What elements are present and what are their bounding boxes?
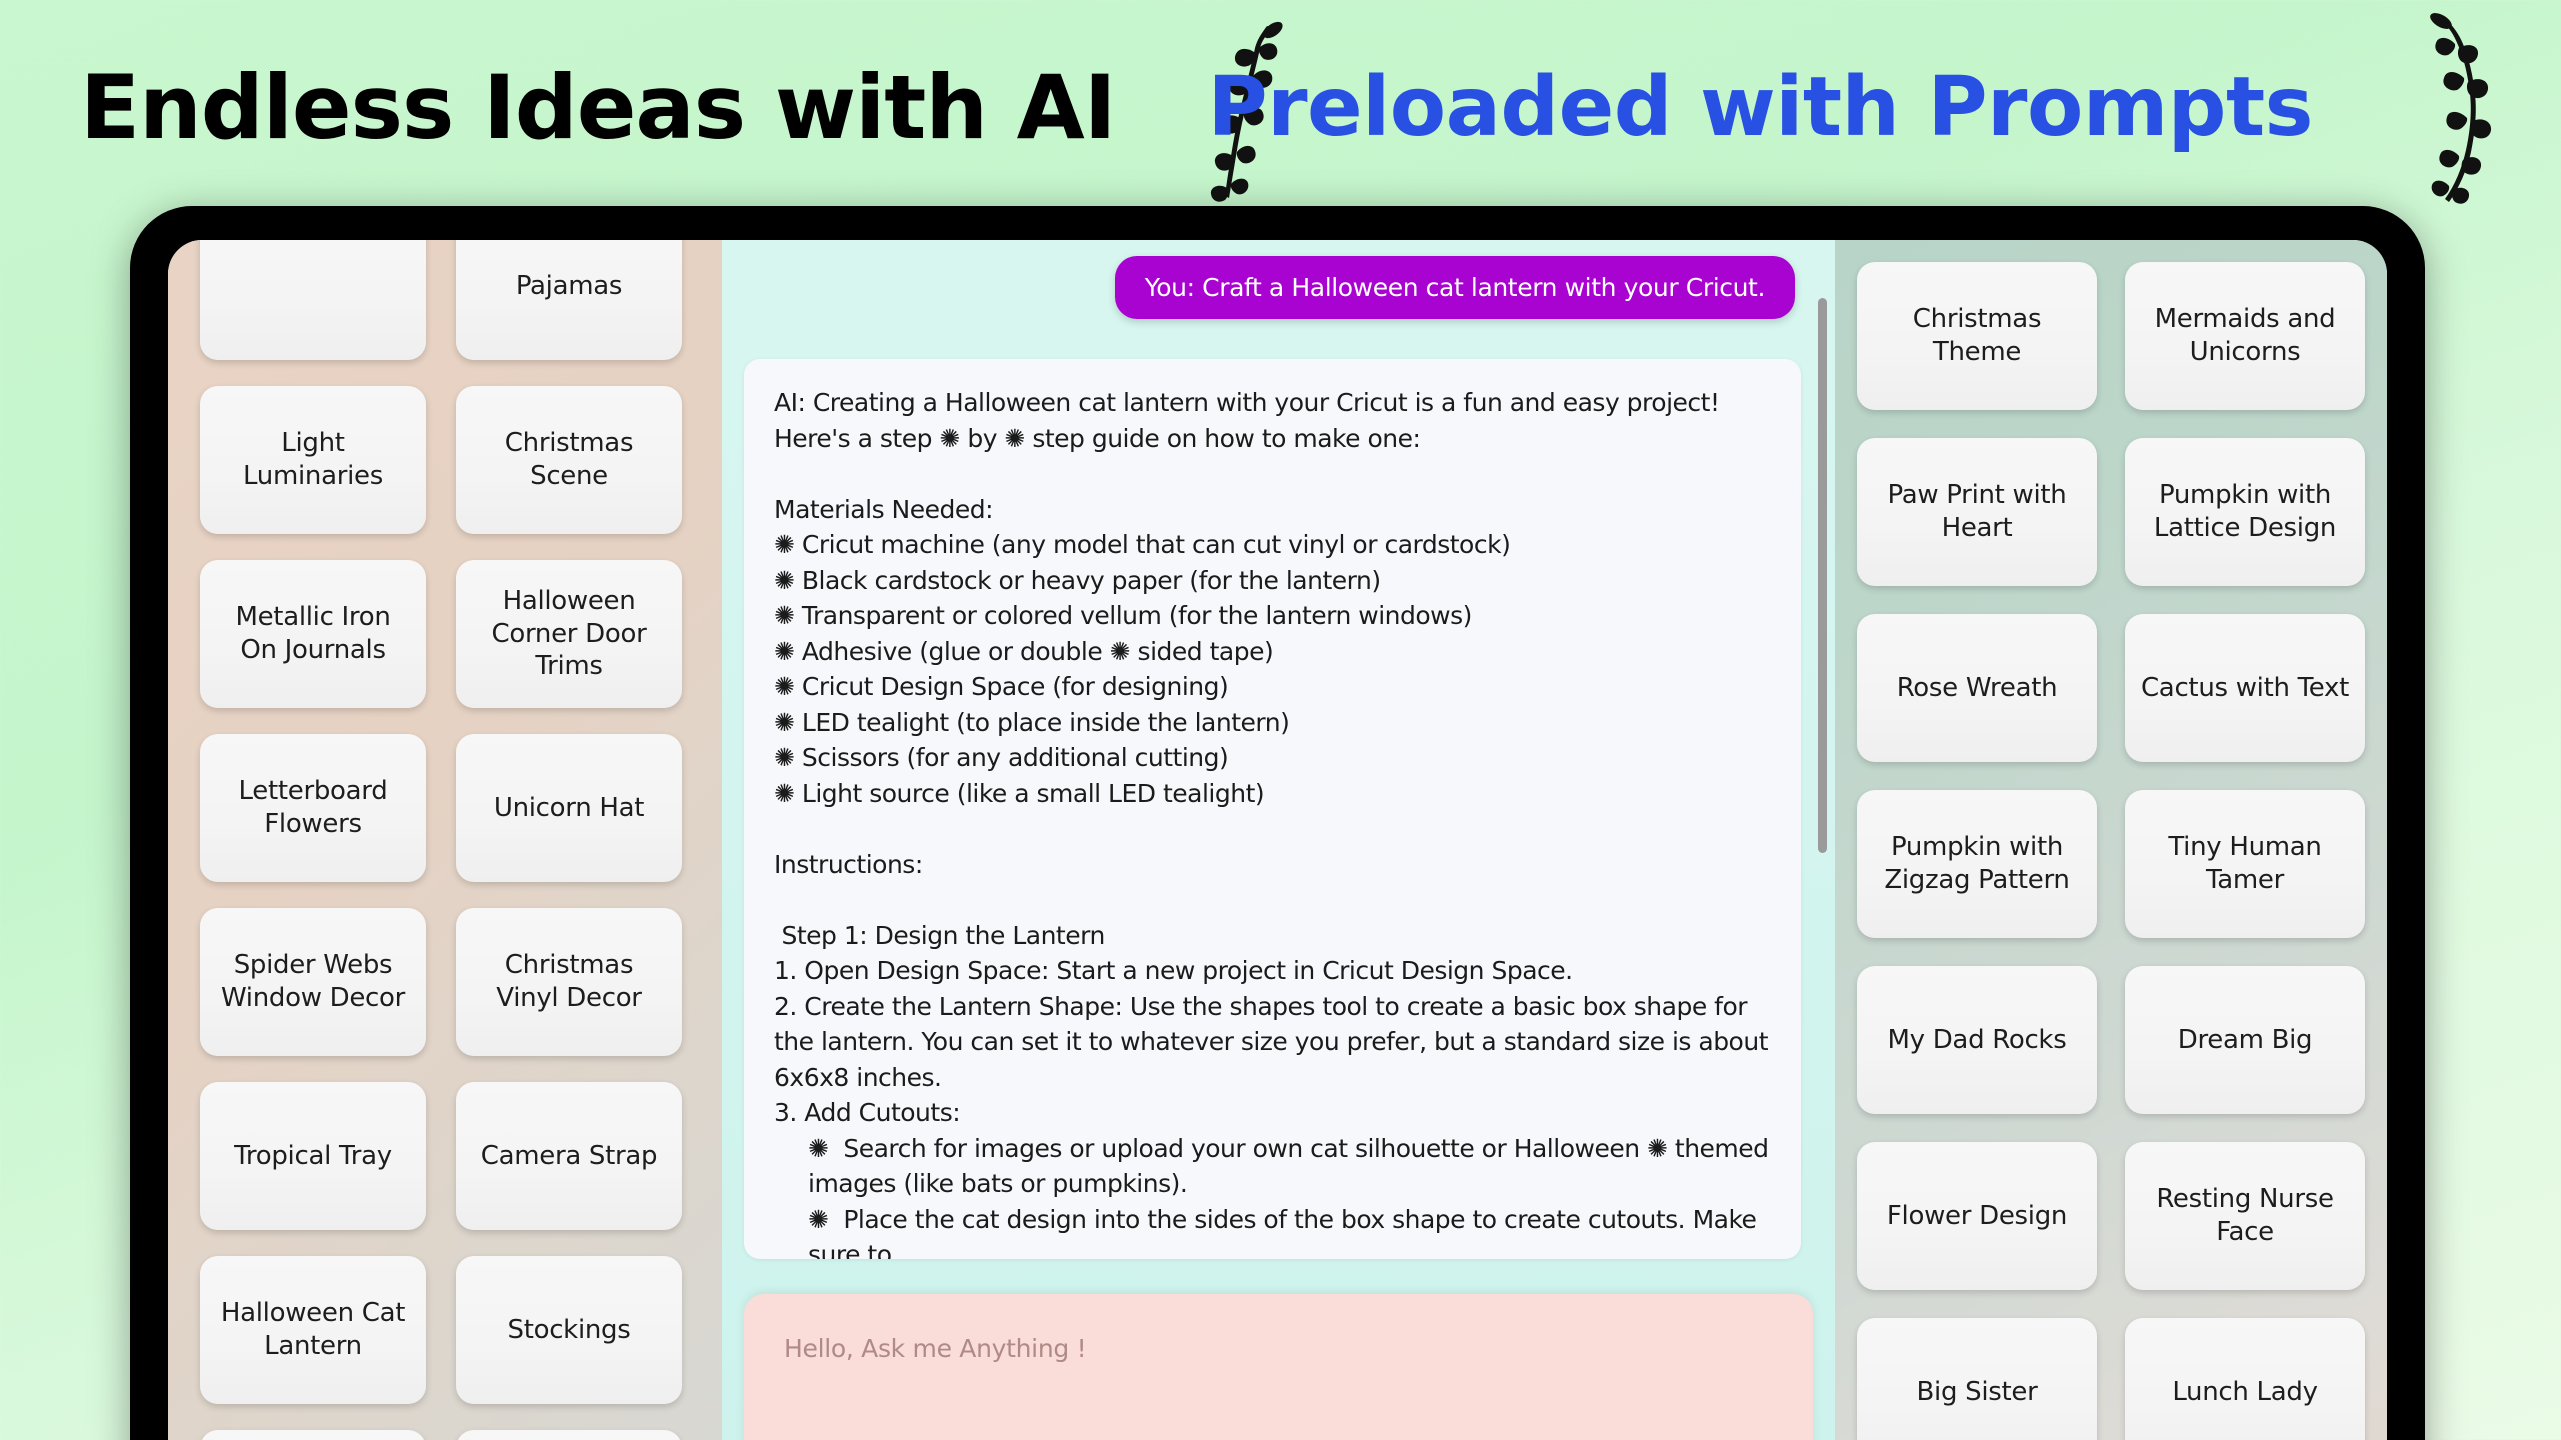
- left-prompt-card[interactable]: Light Luminaries: [200, 386, 426, 534]
- ai-message-line: ✺ Light source (like a small LED tealigh…: [774, 776, 1771, 812]
- chat-input[interactable]: [758, 1308, 1799, 1440]
- left-prompt-card[interactable]: Flower Wreath: [456, 1430, 682, 1440]
- right-prompt-card[interactable]: Flower Design: [1857, 1142, 2097, 1290]
- ai-message-line: Step 1: Design the Lantern: [774, 918, 1771, 954]
- ai-message-line: ✺ Search for images or upload your own c…: [774, 1131, 1771, 1202]
- chat-input-container: [744, 1294, 1813, 1440]
- left-prompt-card[interactable]: Spider Webs Window Decor: [200, 908, 426, 1056]
- right-prompt-grid: Christmas ThemeMermaids and UnicornsPaw …: [1857, 262, 2365, 1440]
- ai-message-line: ✺ Cricut machine (any model that can cut…: [774, 527, 1771, 563]
- left-prompt-card[interactable]: Christmas Scene: [456, 386, 682, 534]
- ai-message-line: ✺ Transparent or colored vellum (for the…: [774, 598, 1771, 634]
- left-prompt-card[interactable]: Letterboard Flowers: [200, 734, 426, 882]
- chat-scroll-region[interactable]: You: Craft a Halloween cat lantern with …: [722, 240, 1835, 1294]
- ai-message-line: ✺ Adhesive (glue or double ✺ sided tape): [774, 634, 1771, 670]
- ai-message-line: ✺ Place the cat design into the sides of…: [774, 1202, 1771, 1260]
- right-prompt-card[interactable]: Mermaids and Unicorns: [2125, 262, 2365, 410]
- right-prompt-panel[interactable]: Christmas ThemeMermaids and UnicornsPaw …: [1835, 240, 2387, 1440]
- chat-scrollbar[interactable]: [1818, 298, 1827, 853]
- user-message-bubble: You: Craft a Halloween cat lantern with …: [1115, 256, 1795, 319]
- right-prompt-card[interactable]: Cactus with Text: [2125, 614, 2365, 762]
- right-prompt-card[interactable]: Dream Big: [2125, 966, 2365, 1114]
- ai-message-line: ✺ Scissors (for any additional cutting): [774, 740, 1771, 776]
- ai-message-line: 2. Create the Lantern Shape: Use the sha…: [774, 989, 1771, 1096]
- right-prompt-card[interactable]: Pumpkin with Lattice Design: [2125, 438, 2365, 586]
- left-prompt-card[interactable]: Stickers: [200, 1430, 426, 1440]
- user-message-row: You: Craft a Halloween cat lantern with …: [744, 256, 1801, 319]
- chat-panel: You: Craft a Halloween cat lantern with …: [722, 240, 1835, 1440]
- tablet-device-frame: PajamasLight LuminariesChristmas SceneMe…: [130, 206, 2425, 1440]
- left-prompt-card[interactable]: Camera Strap: [456, 1082, 682, 1230]
- ai-blank-line: [774, 456, 1771, 492]
- right-prompt-card[interactable]: Big Sister: [1857, 1318, 2097, 1440]
- left-prompt-card[interactable]: Unicorn Hat: [456, 734, 682, 882]
- left-prompt-card[interactable]: [200, 240, 426, 360]
- tablet-screen: PajamasLight LuminariesChristmas SceneMe…: [168, 240, 2387, 1440]
- ai-message-line: 1. Open Design Space: Start a new projec…: [774, 953, 1771, 989]
- ai-message-line: ✺ Cricut Design Space (for designing): [774, 669, 1771, 705]
- headline-right: Preloaded with Prompts: [1207, 67, 2313, 149]
- ai-message-line: ✺ Black cardstock or heavy paper (for th…: [774, 563, 1771, 599]
- left-prompt-card[interactable]: Stockings: [456, 1256, 682, 1404]
- left-prompt-card[interactable]: Halloween Corner Door Trims: [456, 560, 682, 708]
- right-prompt-card[interactable]: Rose Wreath: [1857, 614, 2097, 762]
- left-prompt-card[interactable]: Tropical Tray: [200, 1082, 426, 1230]
- right-prompt-card[interactable]: Christmas Theme: [1857, 262, 2097, 410]
- right-prompt-card[interactable]: Pumpkin with Zigzag Pattern: [1857, 790, 2097, 938]
- ai-message-line: AI: Creating a Halloween cat lantern wit…: [774, 385, 1771, 456]
- right-prompt-card[interactable]: My Dad Rocks: [1857, 966, 2097, 1114]
- left-prompt-panel[interactable]: PajamasLight LuminariesChristmas SceneMe…: [168, 240, 722, 1440]
- ai-message-line: 3. Add Cutouts:: [774, 1095, 1771, 1131]
- ai-message-line: ✺ LED tealight (to place inside the lant…: [774, 705, 1771, 741]
- left-prompt-card[interactable]: Halloween Cat Lantern: [200, 1256, 426, 1404]
- left-prompt-card[interactable]: Metallic Iron On Journals: [200, 560, 426, 708]
- headline-left: Endless Ideas with AI: [80, 64, 1115, 152]
- ai-blank-line: [774, 811, 1771, 847]
- right-prompt-card[interactable]: Lunch Lady: [2125, 1318, 2365, 1440]
- left-prompt-grid: PajamasLight LuminariesChristmas SceneMe…: [200, 240, 682, 1440]
- right-prompt-card[interactable]: Tiny Human Tamer: [2125, 790, 2365, 938]
- ai-message-line: Instructions:: [774, 847, 1771, 883]
- left-prompt-card[interactable]: Pajamas: [456, 240, 682, 360]
- page-header: Endless Ideas with AI Preloaded with Pro…: [0, 0, 2561, 215]
- ai-message-bubble: AI: Creating a Halloween cat lantern wit…: [744, 359, 1801, 1259]
- left-prompt-card[interactable]: Christmas Vinyl Decor: [456, 908, 682, 1056]
- ai-blank-line: [774, 882, 1771, 918]
- right-prompt-card[interactable]: Paw Print with Heart: [1857, 438, 2097, 586]
- ai-message-line: Materials Needed:: [774, 492, 1771, 528]
- right-prompt-card[interactable]: Resting Nurse Face: [2125, 1142, 2365, 1290]
